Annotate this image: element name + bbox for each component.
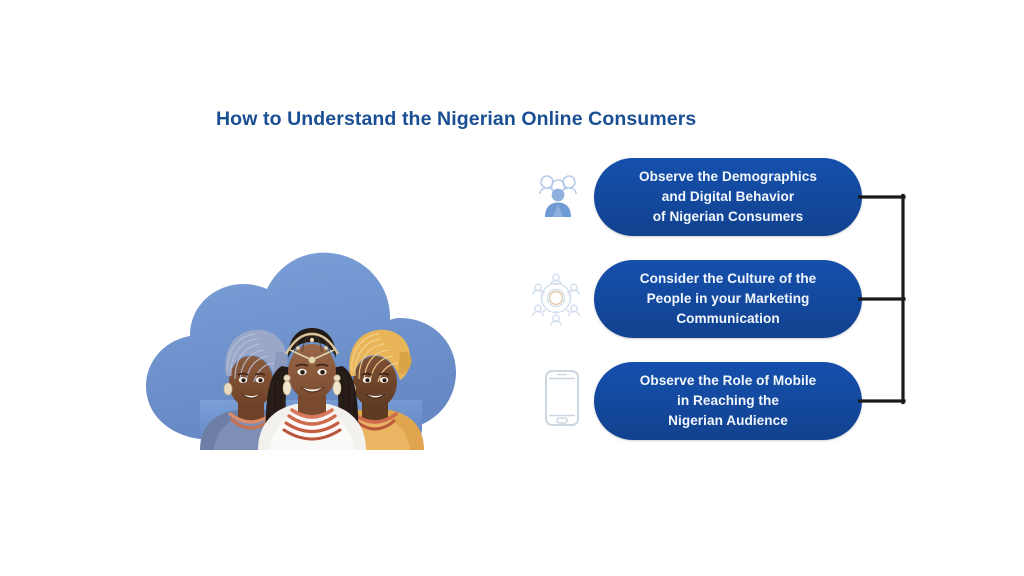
gear-with-people-icon [530,271,582,325]
icon-slot-demographics [530,166,586,226]
mobile-phone-icon [544,369,580,427]
step-pill-culture[interactable]: Consider the Culture of the People in yo… [594,260,862,338]
icon-slot-mobile [534,368,590,428]
page-title: How to Understand the Nigerian Online Co… [216,108,696,131]
group-of-people-icon [536,173,580,219]
step-pill-demographics-text: Observe the Demographics and Digital Beh… [639,167,817,227]
step-pill-demographics[interactable]: Observe the Demographics and Digital Beh… [594,158,862,236]
step-pill-mobile-text: Observe the Role of Mobile in Reaching t… [640,371,817,431]
cloud-illustration [140,250,480,450]
bracket-connector [858,150,918,450]
icon-slot-culture [528,268,584,328]
step-pill-culture-text: Consider the Culture of the People in yo… [640,269,817,329]
three-nigerian-women-illustration [192,310,432,450]
infographic-canvas: How to Understand the Nigerian Online Co… [0,0,1024,576]
step-pill-mobile[interactable]: Observe the Role of Mobile in Reaching t… [594,362,862,440]
